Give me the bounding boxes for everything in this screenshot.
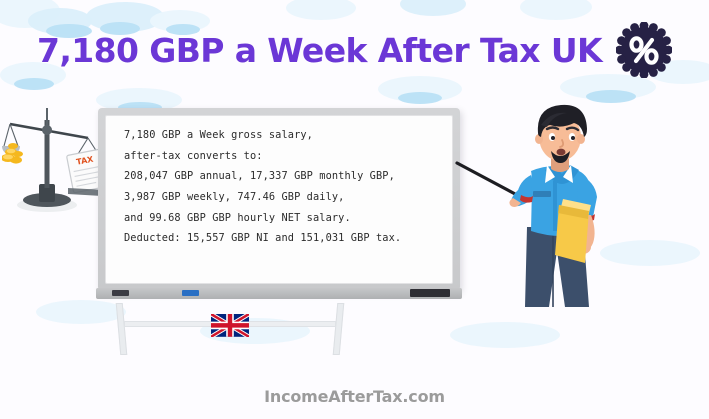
cloud-shape [14,78,54,90]
stand-leg-right [333,303,345,355]
balance-scales-icon: TAX [2,100,112,220]
whiteboard-line: 3,987 GBP weekly, 747.46 GBP daily, [124,192,436,202]
whiteboard-line: after-tax converts to: [124,151,436,161]
uk-union-jack-flag-icon [211,314,249,336]
stand-leg-left [116,303,128,355]
cloud-shape [450,322,560,348]
cloud-shape [520,0,592,20]
site-footer: IncomeAfterTax.com [0,387,709,407]
cloud-shape [398,92,442,104]
teacher-with-pointer-illustration [455,95,655,310]
cloud-shape [286,0,356,20]
whiteboard-stand [110,303,350,355]
site-name: IncomeAfterTax.com [264,387,445,406]
whiteboard-line: and 99.68 GBP GBP hourly NET salary. [124,213,436,223]
whiteboard-line: Deducted: 15,557 GBP NI and 151,031 GBP … [124,233,436,243]
percent-badge-icon [616,22,672,78]
page-title: 7,180 GBP a Week After Tax UK [37,31,602,70]
black-marker-icon [112,290,129,296]
eraser-icon [410,289,450,297]
whiteboard-line: 7,180 GBP a Week gross salary, [124,130,436,140]
blue-marker-icon [182,290,199,296]
whiteboard-tray [96,288,462,299]
whiteboard: 7,180 GBP a Week gross salary, after-tax… [98,108,460,303]
whiteboard-surface: 7,180 GBP a Week gross salary, after-tax… [105,115,453,284]
page-header: 7,180 GBP a Week After Tax UK [0,22,709,78]
whiteboard-frame: 7,180 GBP a Week gross salary, after-tax… [98,108,460,291]
whiteboard-line: 208,047 GBP annual, 17,337 GBP monthly G… [124,171,436,181]
cloud-shape [400,0,466,16]
